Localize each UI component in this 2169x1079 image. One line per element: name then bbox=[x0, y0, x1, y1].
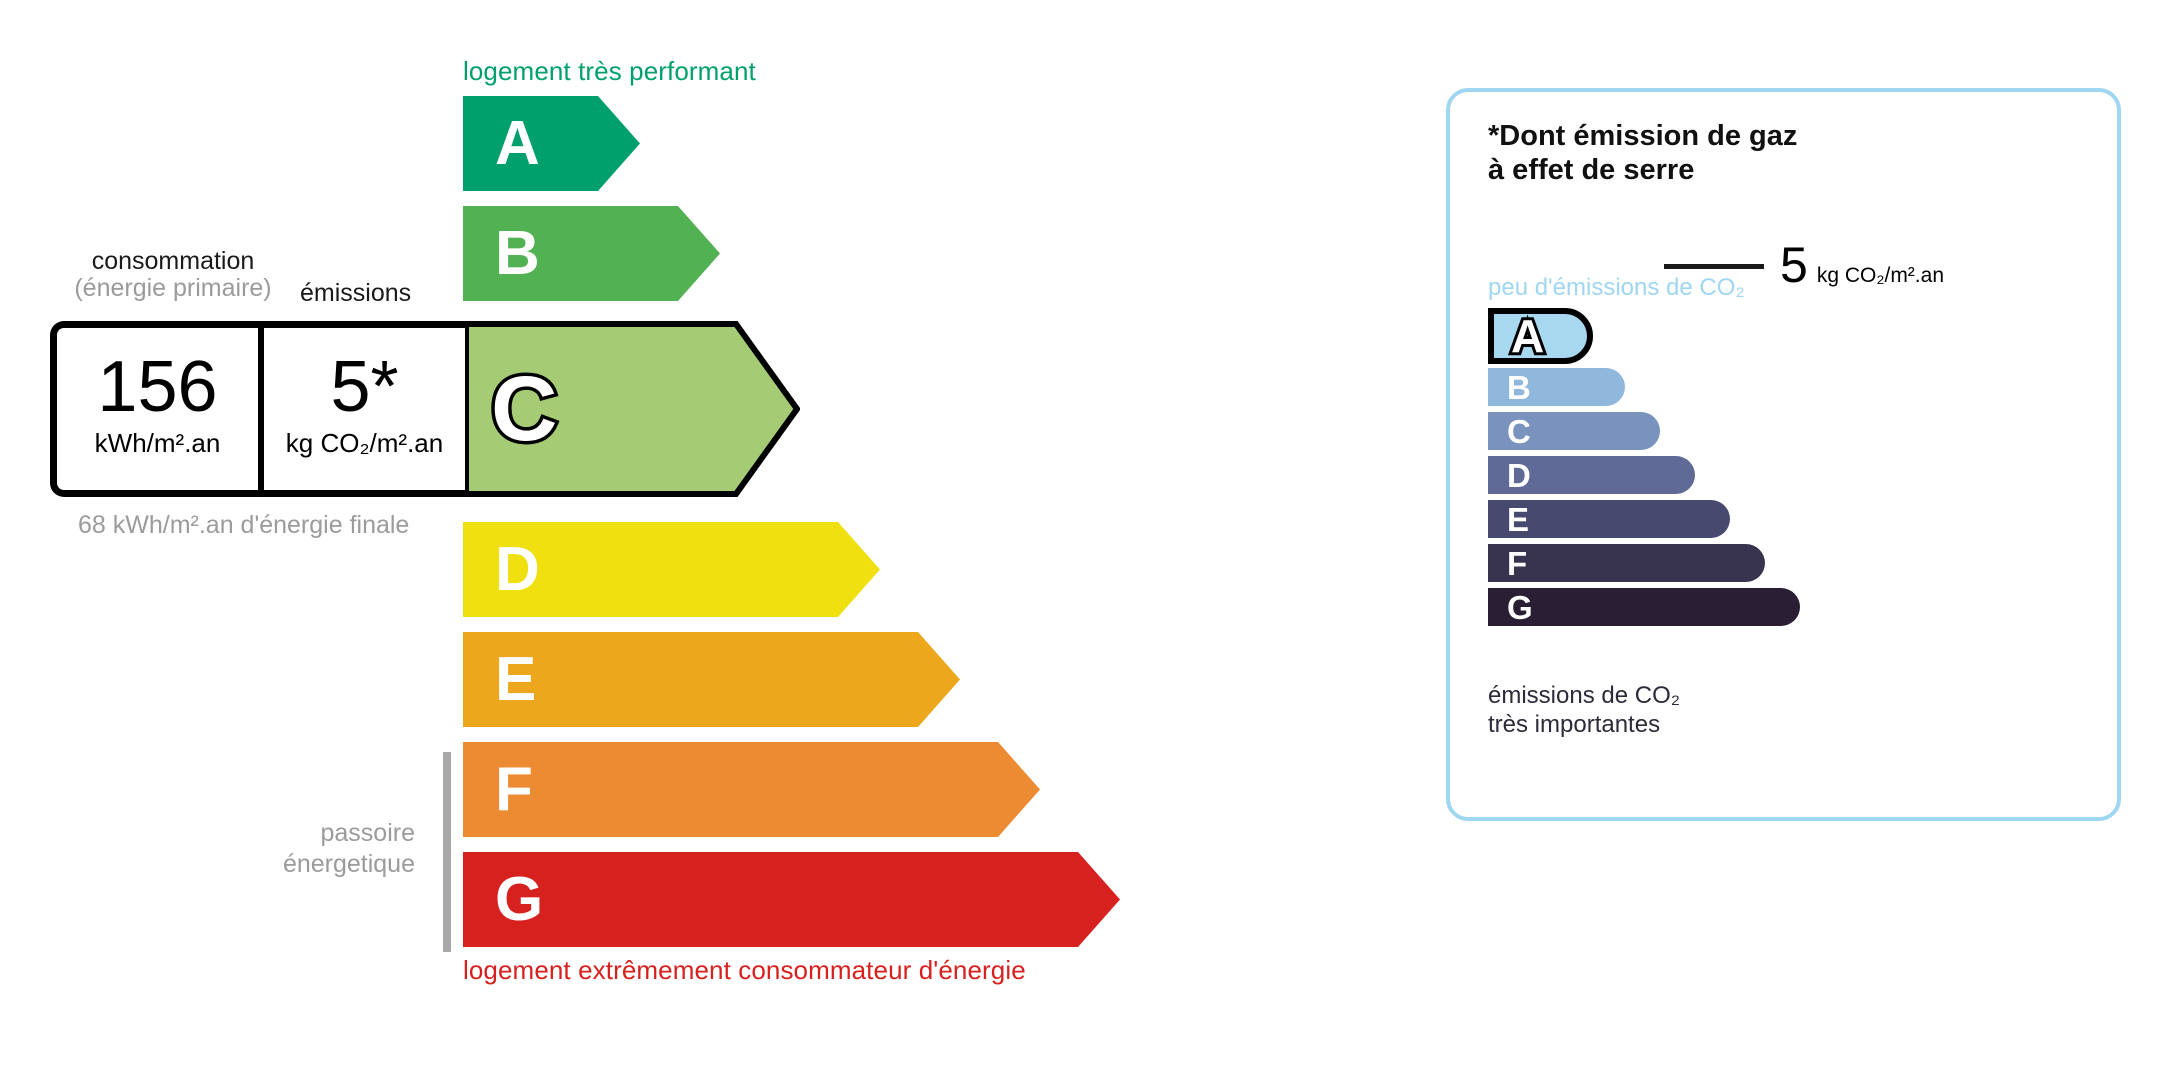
consumption-header: consommation (énergie primaire) bbox=[65, 248, 281, 302]
co2-bar-row-b: B bbox=[1488, 368, 1625, 406]
energy-bar-shape-f bbox=[463, 742, 1040, 837]
top-caption: logement très performant bbox=[463, 56, 756, 87]
energy-bar-letter-b: B bbox=[495, 223, 540, 285]
emission-cell: 5* kg CO₂/m².an bbox=[264, 328, 465, 490]
co2-bar-b: B bbox=[1488, 368, 1625, 406]
energy-bar-row-b: B bbox=[463, 206, 720, 301]
energy-bar-a: A bbox=[463, 96, 640, 191]
energy-bar-row-c: C bbox=[463, 321, 800, 497]
co2-bar-c: C bbox=[1488, 412, 1660, 450]
co2-bar-letter-g: G bbox=[1507, 591, 1533, 624]
primary-energy-cell: 156 kWh/m².an bbox=[57, 328, 264, 490]
co2-panel-title: *Dont émission de gaz à effet de serre bbox=[1488, 119, 1797, 187]
emission-value: 5* bbox=[330, 353, 398, 421]
co2-bar-a: A bbox=[1488, 308, 1593, 364]
emissions-header: émissions bbox=[300, 279, 411, 308]
energy-bar-row-d: D bbox=[463, 522, 880, 617]
co2-bar-row-g: G bbox=[1488, 588, 1800, 626]
emission-unit: kg CO₂/m².an bbox=[286, 428, 443, 459]
co2-bar-letter-e: E bbox=[1507, 503, 1529, 536]
energy-performance-diagram: logement très performant ABCDEFG logemen… bbox=[0, 0, 1400, 1079]
co2-bar-letter-b: B bbox=[1507, 371, 1531, 404]
primary-energy-unit: kWh/m².an bbox=[95, 428, 221, 459]
energy-bar-shape-a bbox=[463, 96, 640, 191]
energy-bar-e: E bbox=[463, 632, 960, 727]
co2-bar-g: G bbox=[1488, 588, 1800, 626]
co2-bar-row-f: F bbox=[1488, 544, 1765, 582]
energy-bar-row-g: G bbox=[463, 852, 1120, 947]
energy-bar-letter-c: C bbox=[491, 363, 557, 455]
co2-bottom-caption: émissions de CO₂ très importantes bbox=[1488, 682, 1680, 740]
co2-bar-letter-c: C bbox=[1507, 415, 1531, 448]
co2-bar-d: D bbox=[1488, 456, 1695, 494]
co2-panel: *Dont émission de gaz à effet de serre p… bbox=[1446, 88, 2121, 821]
energy-bar-letter-e: E bbox=[495, 649, 536, 711]
co2-bar-letter-f: F bbox=[1507, 547, 1527, 580]
consumption-header-sublabel: (énergie primaire) bbox=[65, 275, 281, 302]
passoire-label: passoire énergetique bbox=[205, 818, 415, 879]
primary-energy-value: 156 bbox=[97, 353, 217, 421]
co2-bar-letter-a: A bbox=[1511, 313, 1544, 359]
passoire-divider bbox=[443, 752, 451, 952]
co2-bar-row-a: A bbox=[1488, 308, 1593, 364]
energy-bar-shape-e bbox=[463, 632, 960, 727]
energy-bar-row-a: A bbox=[463, 96, 640, 191]
co2-bar-e: E bbox=[1488, 500, 1730, 538]
co2-value-group: 5 kg CO₂/m².an bbox=[1780, 240, 1944, 290]
energy-bar-letter-a: A bbox=[495, 113, 540, 175]
co2-bar-letter-d: D bbox=[1507, 459, 1531, 492]
energy-bar-letter-g: G bbox=[495, 869, 543, 931]
energy-bar-letter-f: F bbox=[495, 759, 533, 821]
energy-bar-g: G bbox=[463, 852, 1120, 947]
consumption-header-label: consommation bbox=[92, 247, 255, 275]
energy-bar-f: F bbox=[463, 742, 1040, 837]
co2-value: 5 bbox=[1780, 240, 1808, 290]
energy-bar-row-f: F bbox=[463, 742, 1040, 837]
co2-bar-row-e: E bbox=[1488, 500, 1730, 538]
co2-bar-f: F bbox=[1488, 544, 1765, 582]
dpe-screenshot: logement très performant ABCDEFG logemen… bbox=[0, 0, 2169, 1079]
co2-unit: kg CO₂/m².an bbox=[1817, 264, 1944, 288]
value-box: 156 kWh/m².an 5* kg CO₂/m².an bbox=[50, 321, 465, 497]
energy-bar-c: C bbox=[463, 321, 800, 497]
bottom-caption: logement extrêmement consommateur d'éner… bbox=[463, 955, 1026, 986]
co2-top-caption: peu d'émissions de CO₂ bbox=[1488, 274, 1745, 302]
final-energy-note: 68 kWh/m².an d'énergie finale bbox=[78, 510, 409, 541]
co2-leader-line bbox=[1664, 264, 1764, 269]
energy-bar-b: B bbox=[463, 206, 720, 301]
energy-bar-d: D bbox=[463, 522, 880, 617]
energy-bar-shape-g bbox=[463, 852, 1120, 947]
co2-bar-row-c: C bbox=[1488, 412, 1660, 450]
energy-bar-row-e: E bbox=[463, 632, 960, 727]
co2-bar-row-d: D bbox=[1488, 456, 1695, 494]
energy-bar-letter-d: D bbox=[495, 539, 540, 601]
